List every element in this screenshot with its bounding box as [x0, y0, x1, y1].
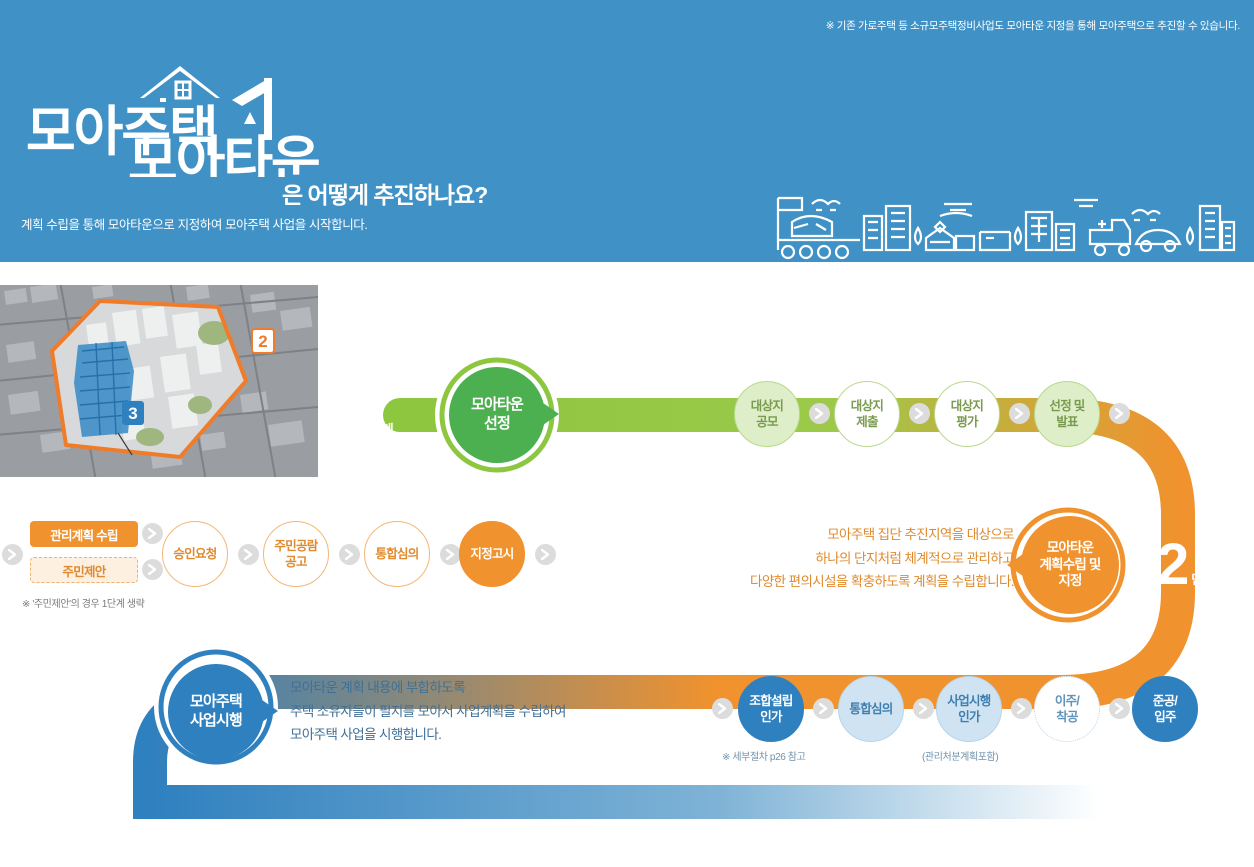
step-2-node-0[interactable]: 승인요청	[162, 521, 228, 587]
step-3-number: 3 단계	[72, 691, 129, 737]
chevron-right-icon	[1109, 698, 1130, 719]
step-1-node-2[interactable]: 대상지 평가	[934, 381, 1000, 447]
step-2-number: 2 단계	[1157, 542, 1214, 588]
step-3-node-3[interactable]: 이주/ 착공	[1034, 676, 1100, 742]
aerial-map: 2 3	[0, 285, 318, 477]
page-title: 은 어떻게 추진하나요?	[282, 176, 487, 210]
moa-logo: 모아주택 모아타운	[20, 52, 540, 177]
step-3-node-0[interactable]: 조합설립 인가	[738, 676, 804, 742]
aerial-map-image: 2 3	[0, 285, 318, 477]
chevron-right-icon	[238, 544, 259, 565]
chevron-right-icon	[1009, 403, 1030, 424]
infographic-page: ※ 기존 가로주택 등 소규모주택정비사업도 모아타운 지정을 통해 모아주택으…	[0, 0, 1254, 867]
chevron-right-icon	[535, 544, 556, 565]
chevron-right-icon	[440, 544, 461, 565]
step-2-pill-management-plan[interactable]: 관리계획 수립	[30, 521, 138, 547]
step-3-node-1[interactable]: 통합심의	[838, 676, 904, 742]
map-label-3: 3	[122, 401, 144, 425]
chevron-right-icon	[142, 559, 163, 580]
svg-text:2: 2	[258, 332, 267, 351]
step-3-node-2-note: (관리처분계획포함)	[922, 748, 998, 763]
step-2-description: 모아주택 집단 추진지역을 대상으로 하나의 단지처럼 체계적으로 관리하고 다…	[704, 523, 1014, 594]
city-skyline-icon	[768, 188, 1236, 260]
chevron-right-icon	[339, 544, 360, 565]
chevron-right-icon	[913, 698, 934, 719]
step-2-node-1[interactable]: 주민공람 공고	[263, 521, 329, 587]
step-2-node-3[interactable]: 지정고시	[459, 521, 525, 587]
step-1-node-1[interactable]: 대상지 제출	[834, 381, 900, 447]
chevron-right-icon	[2, 544, 23, 565]
svg-text:모아타운: 모아타운	[128, 132, 319, 177]
chevron-right-icon	[142, 523, 163, 544]
step-1-bubble[interactable]: 모아타운 선정	[449, 367, 545, 463]
step-3-description: 모아타운 계획 내용에 부합하도록 주택 소유자들이 필지를 모아서 사업계획을…	[290, 676, 650, 747]
step-1-number: 1 단계	[336, 392, 393, 438]
step-1-bubble-pointer	[543, 403, 559, 425]
step-1-node-0[interactable]: 대상지 공모	[734, 381, 800, 447]
step-3-bubble-pointer	[262, 700, 278, 722]
header-note: ※ 기존 가로주택 등 소규모주택정비사업도 모아타운 지정을 통해 모아주택으…	[826, 18, 1240, 33]
chevron-right-icon	[712, 698, 733, 719]
step-2-node-2[interactable]: 통합심의	[364, 521, 430, 587]
step-3-bubble[interactable]: 모아주택 사업시행	[168, 664, 264, 760]
step-3-node-4[interactable]: 준공/ 입주	[1132, 676, 1198, 742]
step-3-node-0-note: ※ 세부절차 p26 참고	[722, 748, 805, 763]
chevron-right-icon	[909, 403, 930, 424]
chevron-right-icon	[813, 698, 834, 719]
step-2-note: ※ '주민제안'의 경우 1단계 생략	[22, 595, 144, 610]
step-2-pill-resident-proposal[interactable]: 주민제안	[30, 557, 138, 583]
chevron-right-icon	[1011, 698, 1032, 719]
moa-logo-icon: 모아주택 모아타운	[20, 52, 540, 177]
step-2-bubble[interactable]: 모아타운 계획수립 및 지정	[1021, 516, 1119, 614]
chevron-right-icon	[809, 403, 830, 424]
page-header: ※ 기존 가로주택 등 소규모주택정비사업도 모아타운 지정을 통해 모아주택으…	[0, 0, 1254, 262]
header-subtitle: 계획 수립을 통해 모아타운으로 지정하여 모아주택 사업을 시작합니다.	[21, 214, 368, 233]
svg-text:3: 3	[128, 404, 137, 423]
step-3-node-2[interactable]: 사업시행 인가	[936, 676, 1002, 742]
chevron-right-icon	[1109, 403, 1130, 424]
map-label-2: 2	[252, 329, 274, 353]
step-1-node-3[interactable]: 선정 및 발표	[1034, 381, 1100, 447]
